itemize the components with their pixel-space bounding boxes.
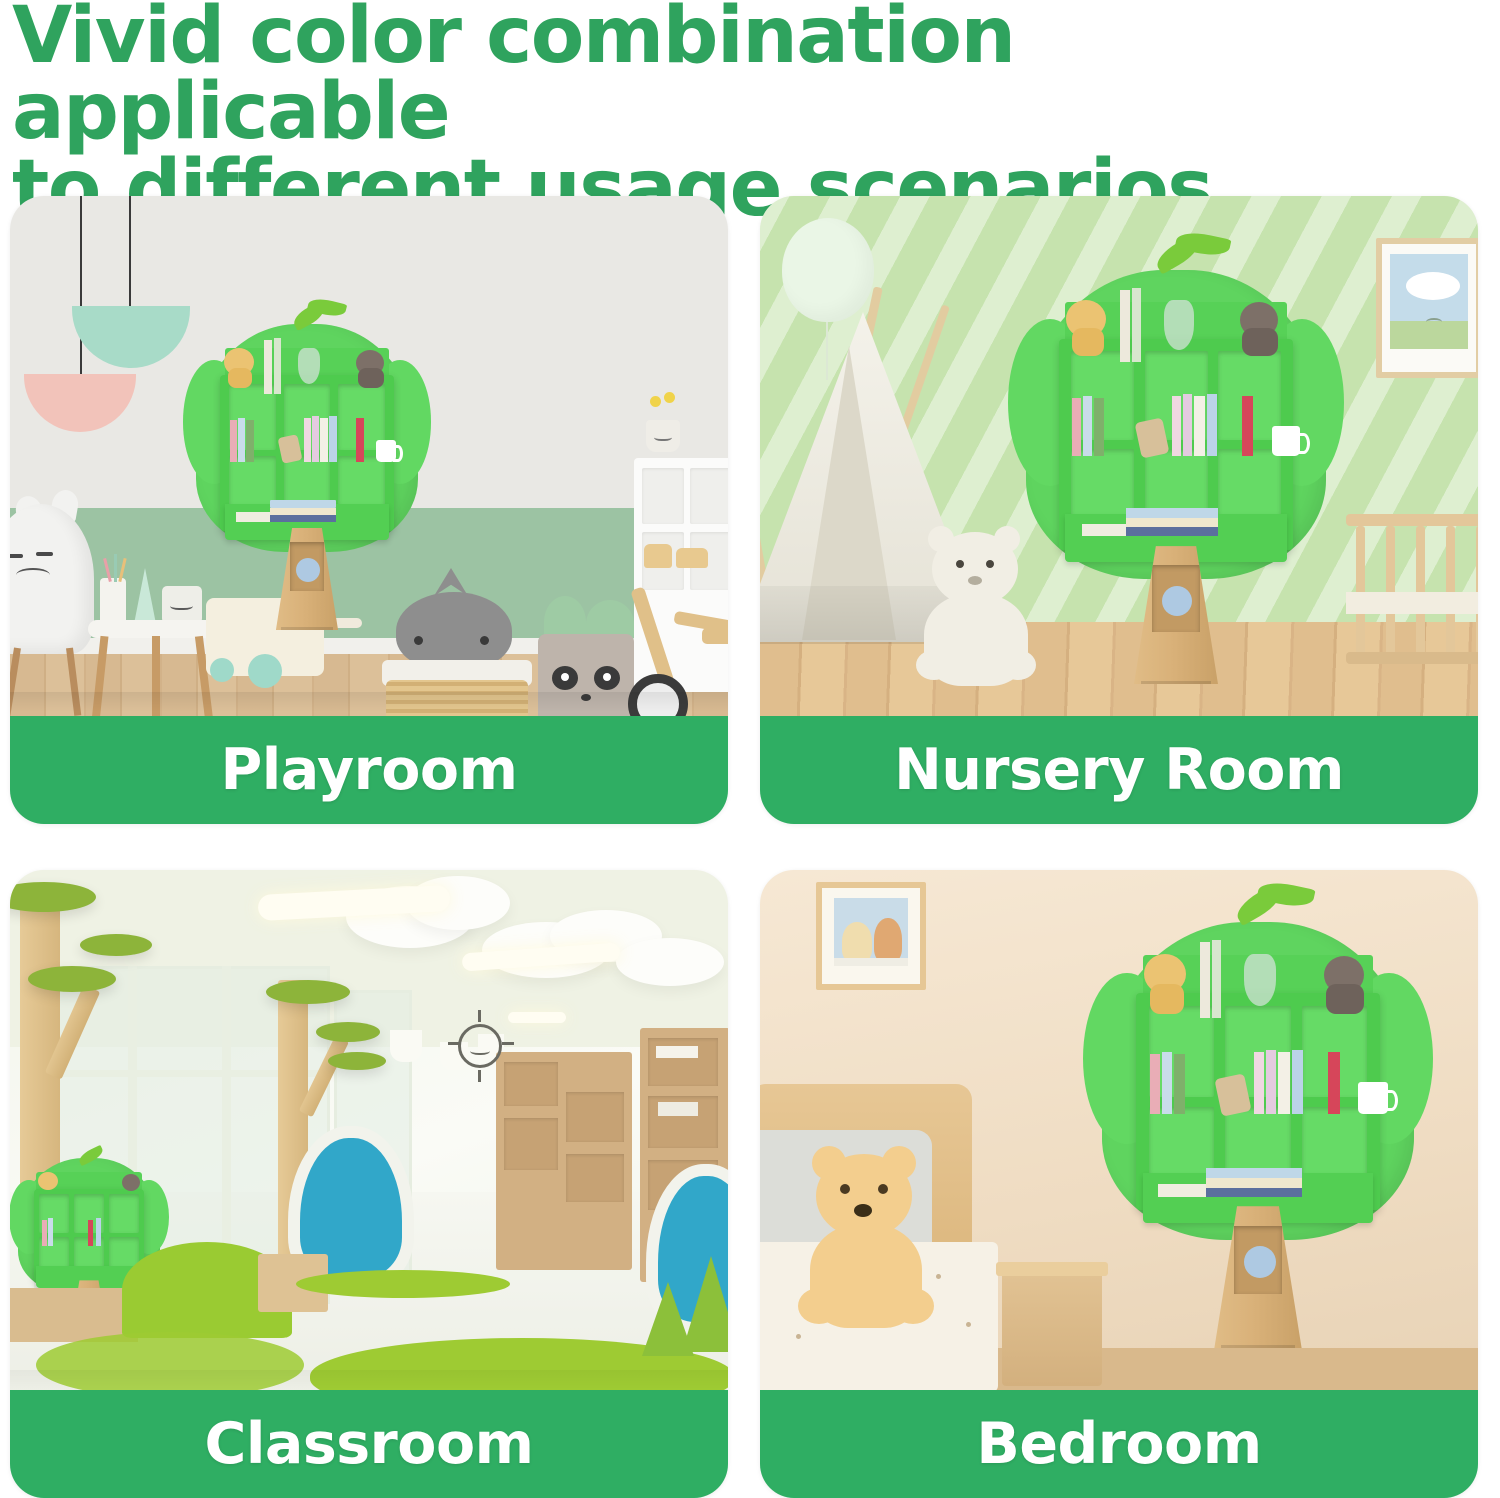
panel-shadow	[10, 1370, 728, 1390]
blue-teddy-bear	[296, 558, 320, 582]
whale-eye	[414, 636, 423, 645]
playroom-photo	[10, 196, 728, 716]
tree-bookshelf	[1102, 922, 1414, 1340]
sun-face	[470, 1046, 490, 1055]
balloon-string	[826, 322, 828, 380]
sun-ray	[502, 1042, 514, 1045]
book-spine-lovely	[1194, 396, 1205, 456]
artwork-bear	[842, 922, 872, 962]
book-spine	[1266, 1050, 1276, 1114]
scenario-label-playroom: Playroom	[220, 737, 517, 803]
white-balloon	[782, 218, 874, 322]
tree-bookshelf	[1026, 270, 1326, 676]
scenario-card-playroom[interactable]: Playroom	[10, 196, 728, 824]
cat-chair-eye	[36, 552, 53, 556]
quilt-pattern-dot	[966, 1322, 971, 1327]
cart-wheel	[248, 654, 282, 688]
book-spine	[246, 420, 254, 462]
book-spine	[42, 1220, 47, 1246]
shelf-compartment	[566, 1092, 624, 1142]
shelf-compartment	[504, 1062, 558, 1106]
scenario-label-bedroom: Bedroom	[976, 1411, 1261, 1477]
flower	[650, 396, 661, 407]
book-upright	[274, 338, 281, 394]
label-bar-classroom: Classroom	[10, 1390, 728, 1498]
tree-disc	[80, 934, 152, 956]
book-spine	[1292, 1050, 1303, 1114]
scenario-card-bedroom[interactable]: Bedroom	[760, 870, 1478, 1498]
books-on-shelf	[656, 1046, 698, 1058]
stacked-books	[1126, 518, 1218, 527]
nightstand-top	[996, 1262, 1108, 1276]
tree-bookshelf	[196, 324, 418, 624]
bedroom-photo	[760, 870, 1478, 1390]
loose-papers	[1158, 1184, 1206, 1197]
cat-chair-whiskers	[16, 568, 50, 582]
book-upright	[1212, 940, 1221, 1018]
shelf-compartment	[642, 468, 684, 524]
wooden-animal-toy	[676, 548, 708, 568]
scenario-label-classroom: Classroom	[204, 1411, 533, 1477]
shelf-compartment	[504, 1118, 558, 1170]
quilt-pattern-dot	[796, 1334, 801, 1339]
shelf-cubby	[109, 1194, 139, 1233]
red-book	[356, 418, 364, 462]
white-mug	[376, 440, 396, 462]
pot-smile	[654, 432, 672, 441]
smiley-mug-face	[170, 600, 193, 610]
sun-ray	[448, 1042, 460, 1045]
stacked-books	[270, 508, 336, 515]
stacked-books	[1206, 1178, 1302, 1188]
books-on-shelf	[658, 1102, 698, 1116]
book-spine	[1207, 394, 1217, 456]
picture-cloud	[1406, 272, 1460, 300]
artwork-bear	[874, 918, 902, 962]
white-mug	[1272, 426, 1300, 456]
picture-bird	[1426, 318, 1442, 326]
lion-plush-body	[1072, 328, 1104, 356]
book-spine-lovely	[1278, 1052, 1290, 1114]
book-spine	[230, 420, 237, 462]
lion-plush	[38, 1172, 58, 1190]
book-spine	[304, 418, 311, 462]
teddy-bear-eye	[878, 1184, 888, 1194]
whale-plush	[396, 592, 512, 670]
teddy-bear-nose	[854, 1204, 872, 1217]
book-spine-insmode	[1174, 1054, 1185, 1114]
book-upright	[1120, 290, 1130, 362]
book-spine	[312, 416, 319, 462]
panda-bin-pupil	[603, 673, 611, 681]
lamp-cord	[129, 196, 131, 308]
book-upright	[1132, 288, 1141, 362]
scenario-card-classroom[interactable]: Classroom	[10, 870, 728, 1498]
lamp-cord	[80, 196, 82, 378]
nightstand	[1002, 1268, 1102, 1386]
teddy-bear-paw	[798, 1288, 840, 1324]
teddy-bear-paw	[892, 1288, 934, 1324]
shelf-compartment	[566, 1154, 624, 1202]
cloud-decoration	[616, 938, 724, 986]
panda-bin-pupil	[561, 673, 569, 681]
book-spine	[48, 1218, 53, 1246]
sun-ray	[478, 1070, 481, 1082]
book-spine	[1083, 396, 1092, 456]
artwork-ground	[834, 958, 908, 966]
cart-wheel	[210, 658, 234, 682]
blue-teddy-bear	[1244, 1246, 1276, 1278]
glass-vase	[298, 348, 320, 384]
teddy-bear-eye	[986, 560, 994, 568]
glass-vase	[1164, 300, 1194, 350]
stacked-books	[1126, 508, 1218, 518]
stacked-books	[1126, 527, 1218, 536]
book-spine-insmode	[1094, 398, 1104, 456]
book-spine	[88, 1220, 93, 1246]
white-mug	[1358, 1082, 1388, 1114]
framed-bear-artwork	[816, 882, 926, 990]
scenario-label-nursery-room: Nursery Room	[894, 737, 1344, 803]
framed-landscape-picture	[1376, 238, 1478, 378]
book-spine	[96, 1218, 101, 1246]
lion-plush-body	[1150, 984, 1184, 1014]
panda-plush	[122, 1174, 140, 1191]
quilt-pattern-dot	[936, 1274, 941, 1279]
panda-plush-body	[358, 368, 384, 388]
loose-papers	[1082, 524, 1126, 536]
tree-disc	[266, 980, 350, 1004]
scenario-card-nursery-room[interactable]: Nursery Room	[760, 196, 1478, 824]
crib-mattress	[1346, 592, 1478, 614]
flower	[664, 392, 675, 403]
stacked-books	[1206, 1188, 1302, 1197]
blue-teddy-bear	[1162, 586, 1192, 616]
book-spine	[1162, 1052, 1172, 1114]
panda-plush-body	[1242, 328, 1278, 356]
panda-plush-body	[1326, 984, 1364, 1014]
tree-disc	[28, 966, 116, 992]
classroom-photo	[10, 870, 728, 1390]
red-book	[1242, 396, 1253, 456]
label-bar-nursery-room: Nursery Room	[760, 716, 1478, 824]
red-book	[1328, 1052, 1340, 1114]
book-spine	[1072, 398, 1081, 456]
teddy-bear-nose	[968, 576, 982, 585]
book-spine	[1150, 1054, 1160, 1114]
scenario-grid: Playroom	[10, 196, 1480, 1491]
teddy-bear-paw	[916, 650, 952, 680]
book-spine	[1254, 1052, 1264, 1114]
book-upright	[264, 340, 272, 394]
strip-light	[508, 1012, 566, 1023]
stacked-books	[1206, 1168, 1302, 1178]
whale-eye	[480, 636, 489, 645]
glass-vase	[1244, 954, 1276, 1006]
lion-plush-body	[228, 368, 252, 388]
teddy-bear-eye	[840, 1184, 850, 1194]
crib-rail-top	[1346, 514, 1478, 526]
book-spine	[329, 416, 337, 462]
shelf-compartment	[690, 468, 728, 524]
label-bar-playroom: Playroom	[10, 716, 728, 824]
wooden-animal-toy	[644, 544, 672, 568]
loose-papers	[236, 512, 270, 522]
pendant-lamp	[390, 1030, 422, 1062]
page-title: Vivid color combination applicable to di…	[12, 0, 1332, 227]
book-upright	[1200, 942, 1210, 1018]
book-spine-lovely	[320, 418, 328, 462]
book-spine	[1172, 396, 1181, 456]
tree-disc	[328, 1052, 386, 1070]
pencil-cup	[100, 578, 126, 624]
floor-mat	[296, 1270, 510, 1298]
stacked-books	[270, 515, 336, 522]
book-spine	[1183, 394, 1192, 456]
nursery-photo	[760, 196, 1478, 716]
cat-chair-eye	[10, 554, 23, 558]
tree-disc	[316, 1022, 380, 1042]
pencil	[114, 554, 117, 582]
page-title-line-1: Vivid color combination applicable	[12, 0, 1015, 157]
sun-ray	[478, 1010, 481, 1022]
panel-shadow	[10, 692, 728, 712]
teddy-bear-eye	[956, 560, 964, 568]
label-bar-bedroom: Bedroom	[760, 1390, 1478, 1498]
bike-seat	[702, 628, 728, 644]
crib-rail-bottom	[1346, 652, 1478, 664]
book-spine	[238, 418, 245, 462]
stacked-books	[270, 500, 336, 508]
